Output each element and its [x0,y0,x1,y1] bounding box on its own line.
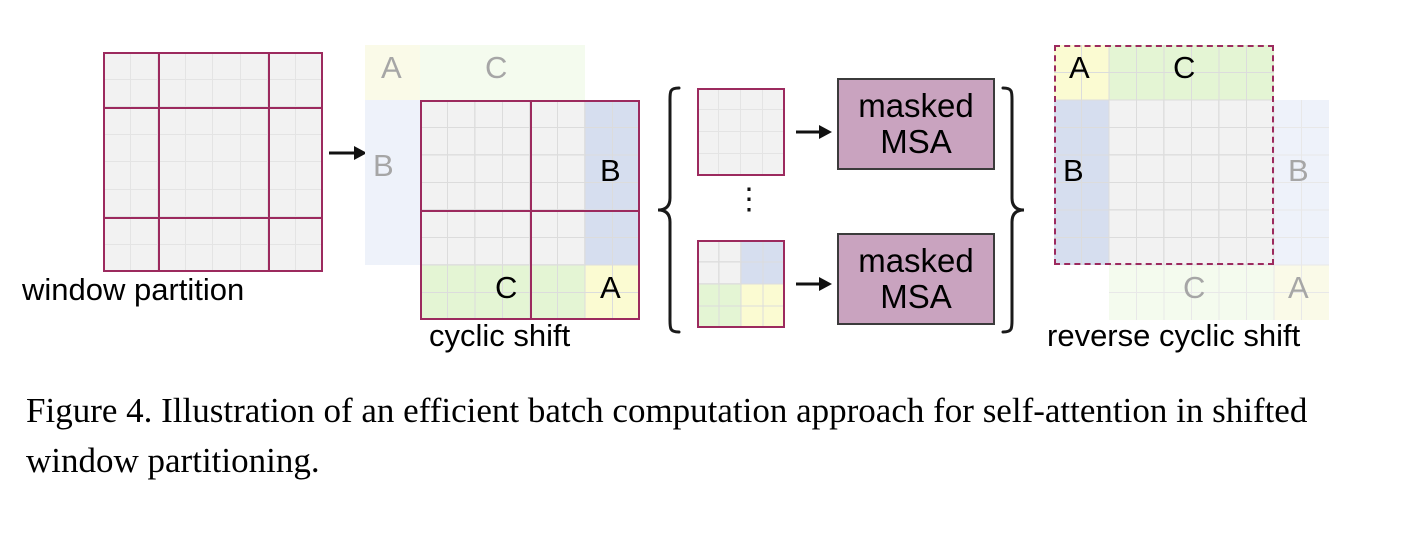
grid-cell [296,135,324,163]
masked-msa-line-2: MSA [880,279,952,315]
grid-cell [131,52,159,80]
grid-cell [158,135,186,163]
grid-cell [131,217,159,245]
grid-cell [241,162,269,190]
reverse-ghost-tag-b: B [1288,155,1309,186]
reverse-tag-c: C [1173,52,1195,83]
grid-cell [296,80,324,108]
tag-a: A [600,272,621,303]
grid-cell [186,162,214,190]
grid-cell [158,80,186,108]
window-divider-horizontal [103,217,323,219]
grid-cell [296,245,324,273]
grid-cell [741,88,763,110]
arrow-window-1-to-msa [795,120,833,144]
grid-cell [131,245,159,273]
masked-msa-line-1: masked [858,88,974,124]
grid-cell [131,190,159,218]
stage-reverse-cyclic-shift: B C A A C B reverse cyclic shift [1035,0,1408,344]
grid-cell [213,52,241,80]
grid-cell [158,245,186,273]
grid-cell [158,217,186,245]
grid-cell [103,135,131,163]
grid-cell [296,217,324,245]
grid-cell [763,154,785,176]
batch-brace-left [655,86,681,334]
grid-cell [268,245,296,273]
ghost-tag-c: C [485,52,507,83]
grid-cell [241,52,269,80]
grid-cell [268,80,296,108]
window-divider-horizontal [103,107,323,109]
grid-cell [241,245,269,273]
window-divider-horizontal [420,210,640,212]
batch-brace-right [1001,86,1027,334]
reverse-tag-b: B [1063,155,1084,186]
grid-cell [763,110,785,132]
grid-cell [296,52,324,80]
grid-cell [103,190,131,218]
grid-cell [158,52,186,80]
grid-cell [213,190,241,218]
ghost-tag-b: B [373,150,394,181]
grid-cell [186,107,214,135]
grid-cell [741,110,763,132]
grid-cell [213,107,241,135]
grid-cell [186,217,214,245]
grid-cell [213,80,241,108]
window-divider-vertical [268,52,270,272]
tag-b: B [600,155,621,186]
grid-cell [131,135,159,163]
grid-cell [186,135,214,163]
grid-cell [186,52,214,80]
tag-c: C [495,272,517,303]
grid-cell [131,107,159,135]
reverse-tag-a: A [1069,52,1090,83]
grid-cell [103,162,131,190]
stage-label-window-partition: window partition [22,272,244,308]
figure-caption: Figure 4. Illustration of an efficient b… [26,386,1386,485]
grid-cell [186,245,214,273]
stage-label-reverse-cyclic-shift: reverse cyclic shift [1047,318,1300,354]
reverse-ghost-tag-a: A [1288,272,1309,303]
arrow-window-2-to-msa [795,272,833,296]
grid-cell [719,110,741,132]
grid-cell [296,190,324,218]
grid-cell [241,190,269,218]
reverse-ghost-tag-c: C [1183,272,1205,303]
grid-cell [158,107,186,135]
grid-cell [296,107,324,135]
grid-cell [131,162,159,190]
grid-cell [268,52,296,80]
msa-window-2-overlay-lines [697,240,785,328]
msa-input-window-1 [697,88,785,176]
grid-cell [158,190,186,218]
grid-cell [741,154,763,176]
grid-cell [719,88,741,110]
grid-cell [741,132,763,154]
masked-msa-line-1: masked [858,243,974,279]
grid-cell [103,245,131,273]
grid-cell [268,107,296,135]
grid-cell [241,107,269,135]
grid-cell [241,135,269,163]
grid-cell [719,132,741,154]
grid-cell [268,135,296,163]
grid-cell [719,154,741,176]
grid-cell [103,52,131,80]
grid-cell [186,190,214,218]
grid-cell [213,135,241,163]
grid-cell [241,217,269,245]
grid-cell [268,190,296,218]
grid-cell [697,88,719,110]
grid-cell [213,217,241,245]
window-divider-vertical [158,52,160,272]
grid-cell [213,245,241,273]
window-partition-grid [103,52,323,272]
grid-cell [103,80,131,108]
grid-cell [697,110,719,132]
grid-cell [268,217,296,245]
masked-msa-box-2: masked MSA [837,233,995,325]
grid-cell [186,80,214,108]
grid-cell [697,132,719,154]
grid-cell [763,88,785,110]
masked-msa-box-1: masked MSA [837,78,995,170]
grid-cell [268,162,296,190]
grid-cell [103,107,131,135]
stage-batched-msa: masked MSA ⋮ masked MSA [655,0,1035,344]
stage-label-cyclic-shift: cyclic shift [429,318,570,354]
stage-window-partition: window partition [0,0,340,340]
grid-cell [158,162,186,190]
ghost-tag-a: A [381,52,402,83]
stage-cyclic-shift: A C B B C A cyclic shift [360,0,660,344]
grid-cell [103,217,131,245]
grid-cell [241,80,269,108]
masked-msa-line-2: MSA [880,124,952,160]
grid-cell [697,154,719,176]
grid-cell [131,80,159,108]
grid-cell [296,162,324,190]
grid-cell [763,132,785,154]
grid-cell [213,162,241,190]
batch-ellipsis: ⋮ [734,185,764,215]
